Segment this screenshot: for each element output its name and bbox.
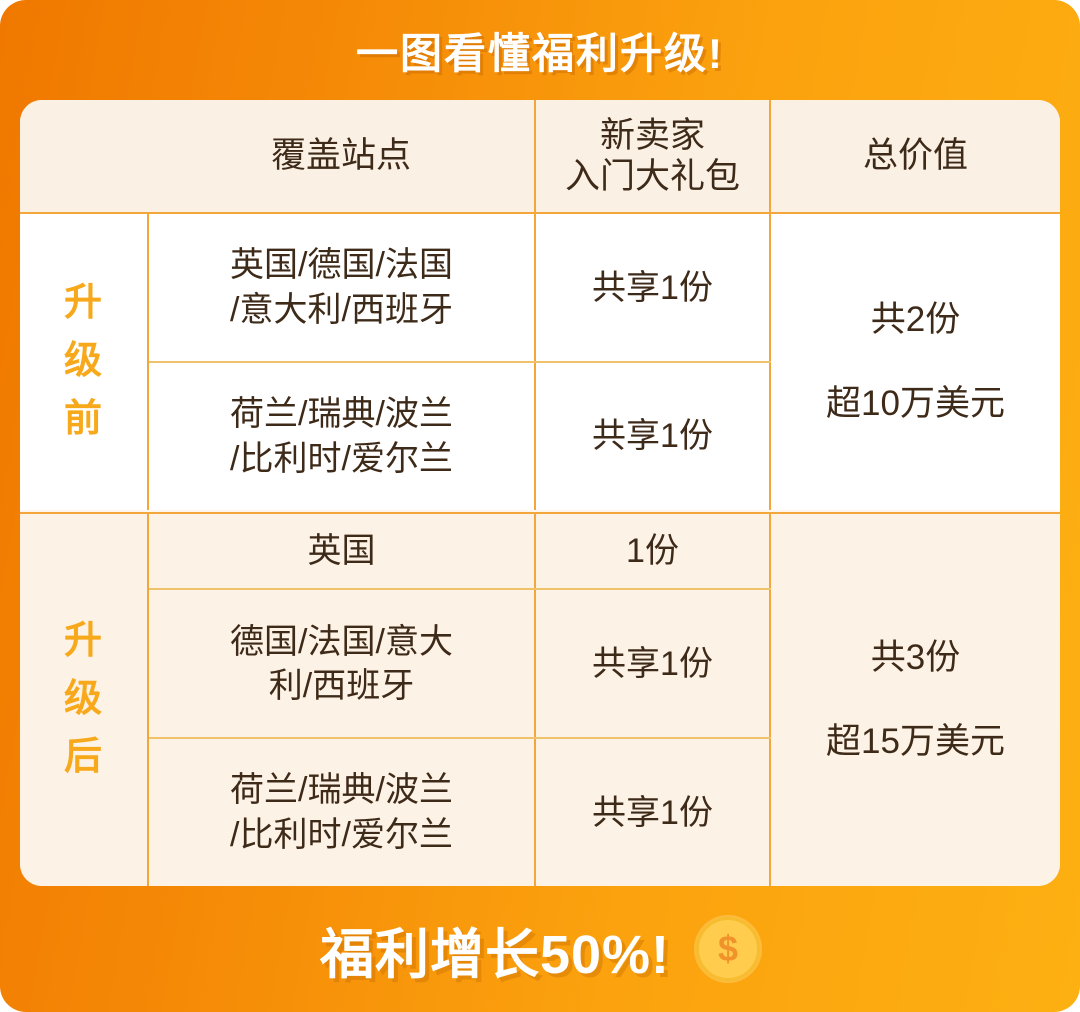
cell-sites-after-1-line1: 英国 — [149, 529, 534, 573]
cell-gift-after-3: 共享1份 — [535, 738, 770, 886]
cell-gift-after-2: 共享1份 — [535, 589, 770, 738]
cell-value-before-line2: 超10万美元 — [826, 383, 1005, 425]
cell-sites-after-2: 德国/法国/意大 利/西班牙 — [148, 589, 535, 738]
section-label-after: 升 级 后 — [20, 513, 148, 886]
cell-sites-after-1: 英国 — [148, 513, 535, 589]
cell-sites-before-1-line1: 英国/德国/法国 — [149, 243, 534, 287]
dollar-sign-glyph: $ — [718, 931, 738, 967]
header-gift-line2: 入门大礼包 — [536, 156, 769, 197]
section-label-after-char-0: 升 — [64, 613, 103, 671]
cell-sites-after-3-line1: 荷兰/瑞典/波兰 — [149, 768, 534, 812]
header-label-spacer — [20, 100, 148, 213]
header-sites: 覆盖站点 — [148, 100, 535, 213]
table-header-row: 覆盖站点 新卖家 入门大礼包 总价值 — [20, 100, 1060, 213]
table-row: 升 级 后 英国 1份 共3份 超15万美元 — [20, 513, 1060, 589]
section-label-after-stack: 升 级 后 — [20, 514, 147, 886]
section-label-after-char-2: 后 — [64, 729, 103, 787]
cell-sites-before-2-line2: /比利时/爱尔兰 — [149, 437, 534, 481]
section-label-before-stack: 升 级 前 — [20, 214, 147, 510]
section-label-before-char-2: 前 — [64, 391, 103, 449]
comparison-card: 覆盖站点 新卖家 入门大礼包 总价值 升 级 前 英国/德国/法国 — [20, 100, 1060, 886]
footer-bar: 福利增长50%! $ — [0, 886, 1080, 1012]
cell-sites-before-1: 英国/德国/法国 /意大利/西班牙 — [148, 213, 535, 362]
cell-sites-before-1-line2: /意大利/西班牙 — [149, 288, 534, 332]
section-label-after-char-1: 级 — [64, 671, 103, 729]
header-gift: 新卖家 入门大礼包 — [535, 100, 770, 213]
cell-sites-after-2-line2: 利/西班牙 — [149, 664, 534, 708]
page-title: 一图看懂福利升级! — [356, 20, 724, 81]
cell-value-before-stack: 共2份 超10万美元 — [771, 299, 1060, 425]
cell-gift-before-1: 共享1份 — [535, 213, 770, 362]
header-value: 总价值 — [770, 100, 1060, 213]
cell-gift-before-2: 共享1份 — [535, 362, 770, 510]
dollar-coin-icon: $ — [696, 917, 760, 981]
cell-sites-after-3: 荷兰/瑞典/波兰 /比利时/爱尔兰 — [148, 738, 535, 886]
section-label-before-char-1: 级 — [64, 333, 103, 391]
cell-value-after: 共3份 超15万美元 — [770, 513, 1060, 886]
cell-value-after-line1: 共3份 — [871, 637, 960, 679]
footer-headline: 福利增长50%! — [320, 910, 670, 989]
cell-value-before: 共2份 超10万美元 — [770, 213, 1060, 510]
benefits-table: 覆盖站点 新卖家 入门大礼包 总价值 升 级 前 英国/德国/法国 — [20, 100, 1060, 886]
table-row: 升 级 前 英国/德国/法国 /意大利/西班牙 共享1份 共2份 超10万美元 — [20, 213, 1060, 362]
cell-gift-after-1: 1份 — [535, 513, 770, 589]
header-gift-line1: 新卖家 — [536, 115, 769, 156]
cell-sites-before-2-line1: 荷兰/瑞典/波兰 — [149, 392, 534, 436]
section-label-before: 升 级 前 — [20, 213, 148, 510]
cell-value-after-line2: 超15万美元 — [826, 721, 1005, 763]
title-bar: 一图看懂福利升级! — [0, 0, 1080, 100]
poster-root: 一图看懂福利升级! 覆盖站点 新卖家 入门大礼包 总价值 — [0, 0, 1080, 1012]
cell-sites-before-2: 荷兰/瑞典/波兰 /比利时/爱尔兰 — [148, 362, 535, 510]
cell-sites-after-3-line2: /比利时/爱尔兰 — [149, 813, 534, 857]
cell-sites-after-2-line1: 德国/法国/意大 — [149, 620, 534, 664]
cell-value-before-line1: 共2份 — [871, 299, 960, 341]
section-label-before-char-0: 升 — [64, 275, 103, 333]
cell-value-after-stack: 共3份 超15万美元 — [771, 637, 1060, 763]
